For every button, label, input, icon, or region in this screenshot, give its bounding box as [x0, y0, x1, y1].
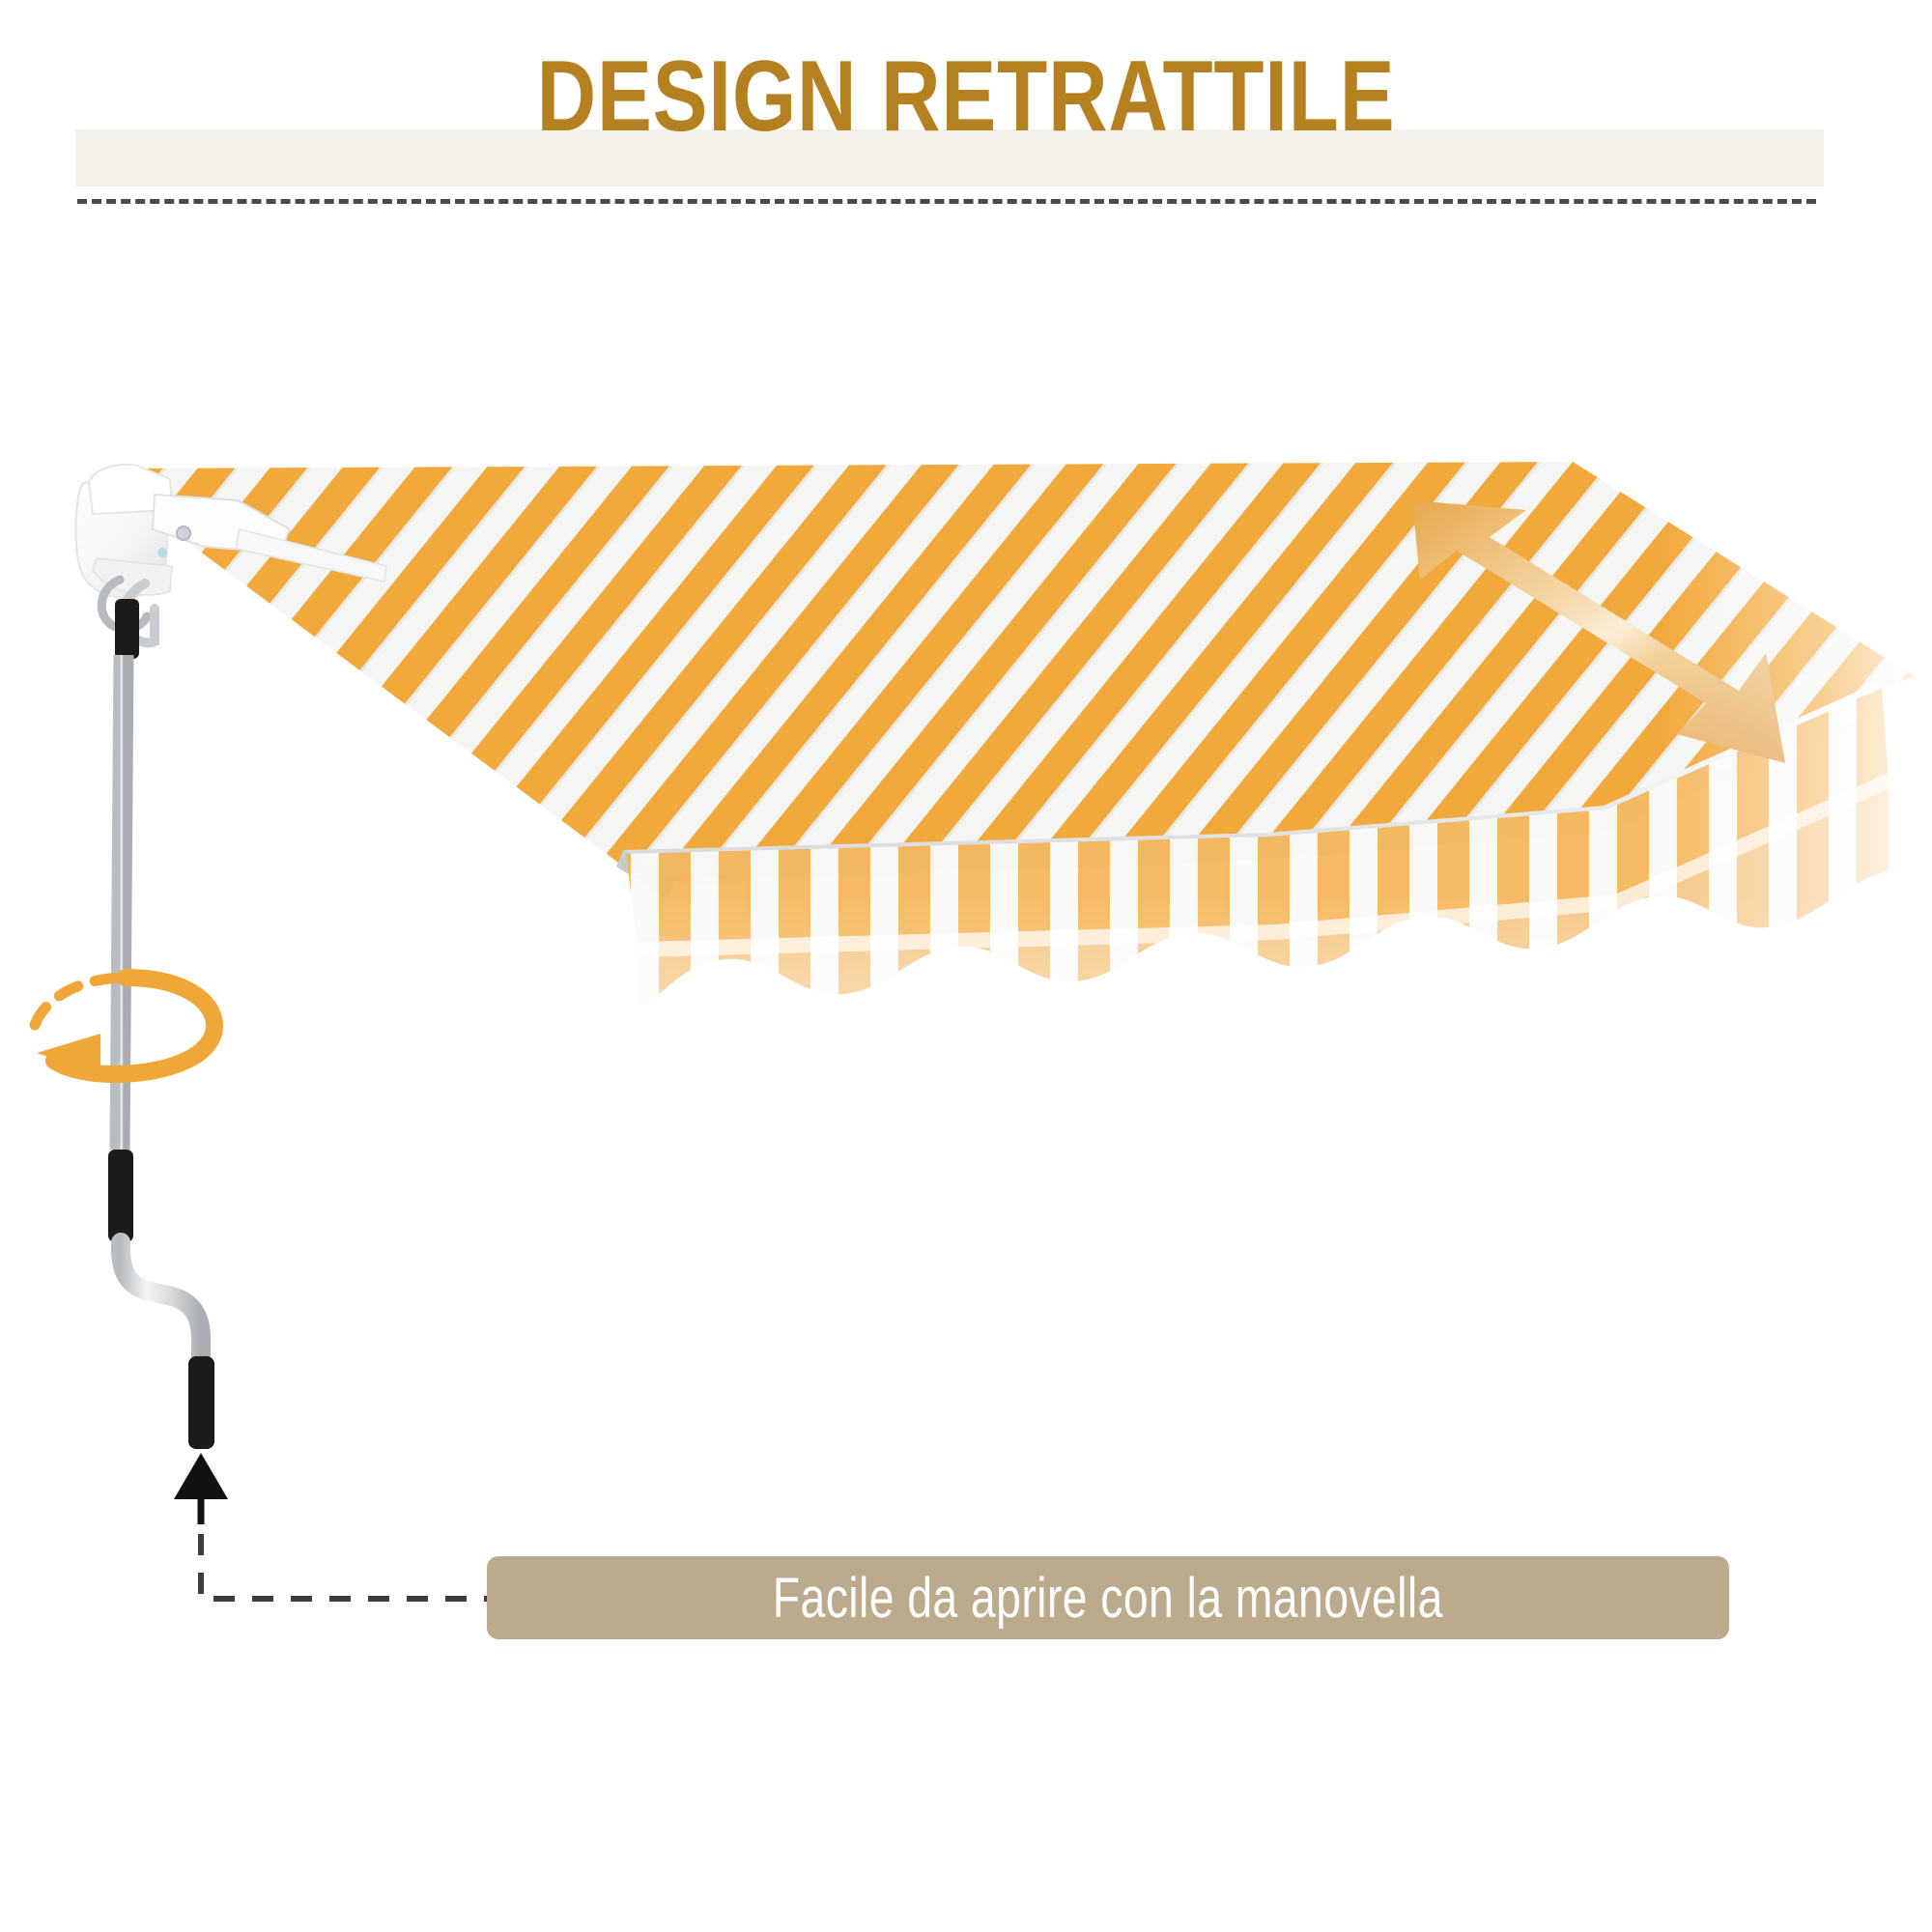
caption-text: Facile da aprire con la manovella [773, 1566, 1443, 1631]
leader-line [201, 1534, 487, 1599]
bottom-fade [386, 773, 1932, 1179]
crank-handle [108, 599, 214, 1449]
infographic-page: DESIGN RETRATTILE [0, 0, 1932, 1932]
crank-grip-top [115, 599, 139, 659]
crank-grip-handle [188, 1356, 214, 1449]
product-illustration [0, 0, 1932, 1932]
crank-grip-middle [108, 1150, 133, 1242]
callout-arrow [174, 1453, 228, 1524]
caption-banner: Facile da aprire con la manovella [487, 1556, 1729, 1639]
